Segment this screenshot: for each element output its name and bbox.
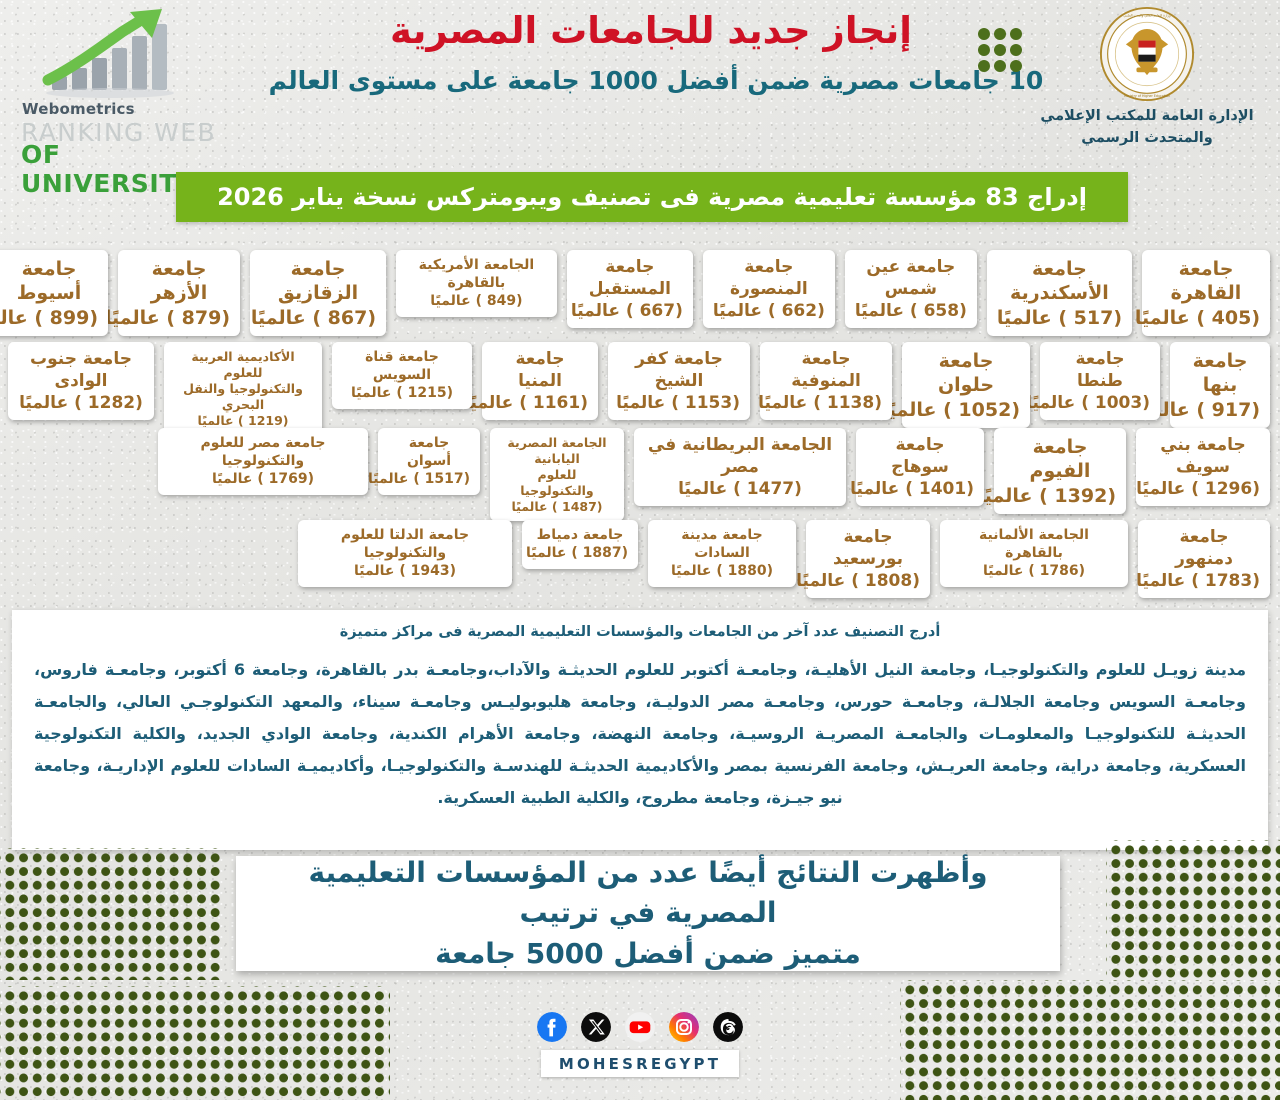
university-rank: (1215 ) عالميًا <box>342 385 462 403</box>
facebook-icon[interactable] <box>537 1012 567 1042</box>
page-subtitle: 10 جامعات مصرية ضمن أفضل 1000 جامعة على … <box>236 64 1076 98</box>
university-card: جامعة المنوفية(1138 ) عالميًا <box>760 342 892 420</box>
university-rank: (1783 ) عالميًا <box>1148 571 1260 593</box>
dot-pattern-decoration <box>0 986 390 1100</box>
university-name: جامعة حلوان <box>912 349 1020 398</box>
university-rank: (1392 ) عالميًا <box>1004 484 1116 508</box>
university-rank: (917 ) عالميًا <box>1180 398 1260 422</box>
card-row: جامعة القاهرة(405 ) عالميًاجامعة الأسكند… <box>0 250 1270 336</box>
youtube-icon[interactable] <box>625 1012 655 1042</box>
university-card: جامعة الأزهر(879 ) عالميًا <box>118 250 240 336</box>
dot-pattern-decoration <box>0 848 222 980</box>
university-card: جامعة مدينة السادات(1880 ) عالميًا <box>648 520 796 587</box>
university-card: جامعة دمياط(1887 ) عالميًا <box>522 520 638 569</box>
green-banner-text: إدراج 83 مؤسسة تعليمية مصرية فى تصنيف وي… <box>217 183 1087 211</box>
university-name: الجامعة الألمانية بالقاهرة <box>950 527 1118 563</box>
university-name: جامعة المنوفية <box>770 349 882 393</box>
social-footer: MOHESREGYPT <box>440 1012 840 1077</box>
university-rank: (517 ) عالميًا <box>997 306 1122 330</box>
threads-icon[interactable] <box>713 1012 743 1042</box>
paragraph-heading: أدرج التصنيف عدد آخر من الجامعات والمؤسس… <box>34 624 1246 640</box>
university-name: جامعة أسوان <box>388 435 470 471</box>
university-rank: (1138 ) عالميًا <box>770 393 882 415</box>
university-name: الجامعة المصرية اليابانية للعلوم والتكنو… <box>500 435 614 499</box>
university-rank: (1517 ) عالميًا <box>388 471 470 489</box>
university-card: الجامعة البريطانية في مصر(1477 ) عالميًا <box>634 428 846 506</box>
university-rank: (867 ) عالميًا <box>260 306 376 330</box>
university-card: جامعة سوهاج(1401 ) عالميًا <box>856 428 984 506</box>
university-rank: (1477 ) عالميًا <box>644 479 836 501</box>
university-card: جامعة المنيا(1161 ) عالميًا <box>482 342 598 420</box>
university-name: الجامعة البريطانية في مصر <box>644 435 836 479</box>
university-rank: (1296 ) عالميًا <box>1146 479 1260 501</box>
card-row: جامعة دمنهور(1783 ) عالميًاالجامعة الألم… <box>0 520 1270 598</box>
university-card: جامعة أسوان(1517 ) عالميًا <box>378 428 480 495</box>
card-row: جامعة بنها(917 ) عالميًاجامعة طنطا(1003 … <box>0 342 1270 435</box>
university-rank: (1153 ) عالميًا <box>618 393 740 415</box>
dot-grid-decoration-icon <box>978 28 1022 72</box>
university-card: جامعة قناة السويس(1215 ) عالميًا <box>332 342 472 409</box>
ministry-logo: وزارة التعليم العالي والبحث العلمي Minis… <box>1032 6 1262 150</box>
instagram-icon[interactable] <box>669 1012 699 1042</box>
university-cards-area: جامعة القاهرة(405 ) عالميًاجامعة الأسكند… <box>0 240 1280 605</box>
university-rank: (1808 ) عالميًا <box>816 571 920 593</box>
university-name: جامعة عين شمس <box>855 257 967 301</box>
svg-text:وزارة التعليم العالي والبحث ال: وزارة التعليم العالي والبحث العلمي <box>1123 14 1171 18</box>
university-rank: (1401 ) عالميًا <box>866 479 974 501</box>
university-name: جامعة مدينة السادات <box>658 527 786 563</box>
university-name: جامعة الدلتا للعلوم والتكنولوجيا <box>308 527 502 563</box>
university-name: جامعة المستقبل <box>577 257 683 301</box>
university-rank: (1052 ) عالميًا <box>912 398 1020 422</box>
page-title: إنجاز جديد للجامعات المصرية <box>236 8 1076 54</box>
webometrics-logo: Webometrics RANKING WEB OF UNIVERSITIES <box>8 4 232 164</box>
university-name: جامعة بورسعيد <box>816 527 920 571</box>
university-name: جامعة القاهرة <box>1152 257 1260 306</box>
header: Webometrics RANKING WEB OF UNIVERSITIES … <box>0 0 1280 168</box>
university-card: جامعة الزقازيق(867 ) عالميًا <box>250 250 386 336</box>
university-card: جامعة المنصورة(662 ) عالميًا <box>703 250 835 328</box>
university-card: جامعة حلوان(1052 ) عالميًا <box>902 342 1030 428</box>
title-block: إنجاز جديد للجامعات المصرية 10 جامعات مص… <box>236 8 1076 98</box>
university-rank: (405 ) عالميًا <box>1152 306 1260 330</box>
university-name: جامعة بني سويف <box>1146 435 1260 479</box>
university-rank: (1161 ) عالميًا <box>492 393 588 415</box>
bottom-banner-line-2: متميز ضمن أفضل 5000 جامعة <box>435 934 861 975</box>
bottom-highlight-banner: وأظهرت النتائج أيضًا عدد من المؤسسات الت… <box>236 856 1060 971</box>
university-rank: (1887 ) عالميًا <box>532 545 628 563</box>
egypt-ministry-seal-icon: وزارة التعليم العالي والبحث العلمي Minis… <box>1099 6 1195 102</box>
university-card: جامعة كفر الشيخ(1153 ) عالميًا <box>608 342 750 420</box>
x-twitter-icon[interactable] <box>581 1012 611 1042</box>
university-card: جامعة الفيوم(1392 ) عالميًا <box>994 428 1126 514</box>
university-card: جامعة المستقبل(667 ) عالميًا <box>567 250 693 328</box>
card-row: جامعة بني سويف(1296 ) عالميًاجامعة الفيو… <box>0 428 1270 521</box>
university-name: جامعة المنصورة <box>713 257 825 301</box>
university-name: جامعة الأسكندرية <box>997 257 1122 306</box>
university-card: جامعة طنطا(1003 ) عالميًا <box>1040 342 1160 420</box>
growth-chart-icon <box>34 6 214 98</box>
university-name: جامعة المنيا <box>492 349 588 393</box>
university-card: جامعة الدلتا للعلوم والتكنولوجيا(1943 ) … <box>298 520 512 587</box>
university-card: الأكاديمية العربية للعلوم والتكنولوجيا و… <box>164 342 322 435</box>
university-name: جامعة سوهاج <box>866 435 974 479</box>
university-rank: (1943 ) عالميًا <box>308 563 502 581</box>
dot-pattern-decoration <box>1106 840 1280 980</box>
university-card: جامعة بنها(917 ) عالميًا <box>1170 342 1270 428</box>
university-card: جامعة دمنهور(1783 ) عالميًا <box>1138 520 1270 598</box>
svg-text:Ministry of Higher Education: Ministry of Higher Education <box>1124 94 1170 98</box>
bottom-banner-line-1: وأظهرت النتائج أيضًا عدد من المؤسسات الت… <box>254 853 1042 934</box>
university-rank: (1880 ) عالميًا <box>658 563 786 581</box>
university-name: جامعة دمياط <box>532 527 628 545</box>
university-card: جامعة أسيوط(899 ) عالميًا <box>0 250 108 336</box>
university-card: جامعة مصر للعلوم والتكنولوجيا(1769 ) عال… <box>158 428 368 495</box>
university-rank: (667 ) عالميًا <box>577 301 683 323</box>
university-card: جامعة القاهرة(405 ) عالميًا <box>1142 250 1270 336</box>
university-name: جامعة قناة السويس <box>342 349 462 385</box>
university-name: جامعة دمنهور <box>1148 527 1260 571</box>
university-rank: (658 ) عالميًا <box>855 301 967 323</box>
paragraph-body: مدينة زويـل للعلوم والتكنولوجيـا، وجامعة… <box>34 654 1246 814</box>
university-name: جامعة جنوب الوادى <box>18 349 144 393</box>
university-card: الجامعة المصرية اليابانية للعلوم والتكنو… <box>490 428 624 521</box>
university-name: جامعة طنطا <box>1050 349 1150 393</box>
university-name: جامعة الأزهر <box>128 257 230 306</box>
infographic-page: Webometrics RANKING WEB OF UNIVERSITIES … <box>0 0 1280 1100</box>
university-card: جامعة بني سويف(1296 ) عالميًا <box>1136 428 1270 506</box>
university-name: جامعة الفيوم <box>1004 435 1116 484</box>
university-name: جامعة أسيوط <box>0 257 98 306</box>
university-rank: (1786 ) عالميًا <box>950 563 1118 581</box>
webometrics-wordmark: Webometrics <box>22 100 222 118</box>
university-rank: (899 ) عالميًا <box>0 306 98 330</box>
university-card: الجامعة الألمانية بالقاهرة(1786 ) عالميً… <box>940 520 1128 587</box>
social-handle-plate: MOHESREGYPT <box>541 1050 739 1077</box>
university-name: الأكاديمية العربية للعلوم والتكنولوجيا و… <box>174 349 312 413</box>
university-card: جامعة جنوب الوادى(1282 ) عالميًا <box>8 342 154 420</box>
university-name: الجامعة الأمريكية بالقاهرة <box>406 257 547 293</box>
university-card: جامعة عين شمس(658 ) عالميًا <box>845 250 977 328</box>
university-rank: (1282 ) عالميًا <box>18 393 144 415</box>
university-rank: (1769 ) عالميًا <box>168 471 358 489</box>
university-rank: (849 ) عالميًا <box>406 293 547 311</box>
university-card: الجامعة الأمريكية بالقاهرة(849 ) عالميًا <box>396 250 557 317</box>
university-rank: (1003 ) عالميًا <box>1050 393 1150 415</box>
additional-institutions-panel: أدرج التصنيف عدد آخر من الجامعات والمؤسس… <box>12 610 1268 850</box>
university-rank: (879 ) عالميًا <box>128 306 230 330</box>
university-name: جامعة كفر الشيخ <box>618 349 740 393</box>
social-handle-text: MOHESREGYPT <box>559 1055 721 1073</box>
university-rank: (662 ) عالميًا <box>713 301 825 323</box>
social-icon-row <box>440 1012 840 1042</box>
university-name: جامعة بنها <box>1180 349 1260 398</box>
university-card: جامعة بورسعيد(1808 ) عالميًا <box>806 520 930 598</box>
green-banner: إدراج 83 مؤسسة تعليمية مصرية فى تصنيف وي… <box>176 172 1128 222</box>
university-name: جامعة مصر للعلوم والتكنولوجيا <box>168 435 358 471</box>
university-rank: (1219 ) عالميًا <box>174 413 312 429</box>
ministry-caption: الإدارة العامة للمكتب الإعلامي والمتحدث … <box>1032 106 1262 150</box>
university-card: جامعة الأسكندرية(517 ) عالميًا <box>987 250 1132 336</box>
university-name: جامعة الزقازيق <box>260 257 376 306</box>
university-rank: (1487 ) عالميًا <box>500 499 614 515</box>
dot-pattern-decoration <box>900 980 1280 1100</box>
